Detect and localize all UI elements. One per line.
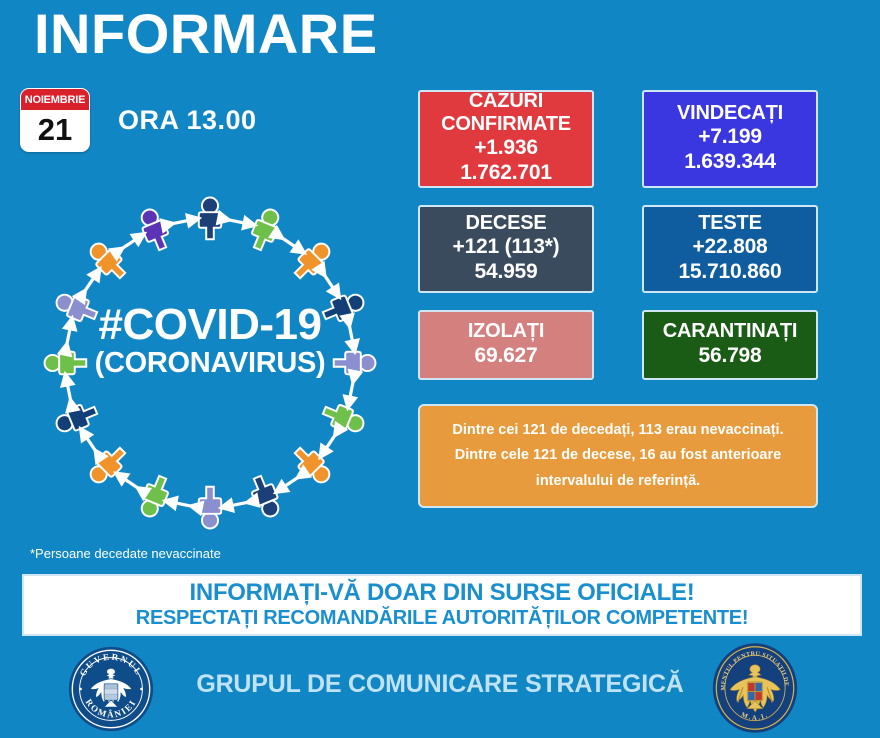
stats-row-2: DECESE +121 (113*) 54.959 TESTE +22.808 … xyxy=(418,205,818,310)
distance-arrow-icon xyxy=(169,502,195,507)
people-circle-svg xyxy=(20,185,400,545)
stat-daily: +121 (113*) xyxy=(426,234,586,259)
stat-label-line1: VINDECAȚI xyxy=(650,102,810,124)
stat-total: 15.710.860 xyxy=(650,259,810,284)
vaccination-note-box: Dintre cei 121 de decedați, 113 erau nev… xyxy=(418,404,818,508)
banner-line-2: RESPECTAȚI RECOMANDĂRILE AUTORITĂȚILOR C… xyxy=(136,606,748,630)
person-icon xyxy=(247,473,284,520)
note-line-3: intervalului de referință. xyxy=(434,469,802,494)
stat-box-cazuri-confirmate: CAZURI CONFIRMATE +1.936 1.762.701 xyxy=(418,90,594,188)
date-bar: NOIEMBRIE 21 ORA 13.00 xyxy=(20,88,257,152)
person-icon xyxy=(290,443,335,488)
stats-row-3: IZOLAȚI 69.627 CARANTINAȚI 56.798 xyxy=(418,310,818,397)
distance-arrow-icon xyxy=(83,432,98,454)
distance-arrow-icon xyxy=(279,476,301,491)
stat-label-line1: TESTE xyxy=(650,212,810,234)
stat-label-line1: DECESE xyxy=(426,212,586,234)
distance-arrow-icon xyxy=(323,432,338,454)
stat-box-vindecati: VINDECAȚI +7.199 1.639.344 xyxy=(642,90,818,188)
distance-arrow-icon xyxy=(83,272,98,294)
social-distancing-graphic: #COVID-19 (CORONAVIRUS) xyxy=(20,185,400,545)
distance-arrow-icon xyxy=(323,272,338,294)
infographic-poster: INFORMARE NOIEMBRIE 21 ORA 13.00 #COVID-… xyxy=(0,0,880,738)
stat-label-line2: CONFIRMATE xyxy=(426,113,586,135)
distance-arrow-icon xyxy=(225,502,251,507)
person-icon xyxy=(199,487,221,529)
distance-arrow-icon xyxy=(349,378,354,404)
person-icon xyxy=(320,400,367,437)
footnote-vaccination: *Persoane decedate nevaccinate xyxy=(30,546,221,561)
stat-total: 1.639.344 xyxy=(650,149,810,174)
stat-total: 1.762.701 xyxy=(426,160,586,185)
distance-arrow-icon xyxy=(119,236,141,251)
stat-label-line1: IZOLAȚI xyxy=(426,320,586,342)
stat-daily: +1.936 xyxy=(426,135,586,160)
stat-daily: +7.199 xyxy=(650,124,810,149)
stat-label-line1: CARANTINAȚI xyxy=(650,320,810,342)
person-icon xyxy=(53,400,100,437)
footer: GUVERNUL ROMÂNIEI GRUPUL DE COMUNICARE S… xyxy=(0,640,880,738)
distance-arrow-icon xyxy=(119,476,141,491)
hour-label: ORA 13.00 xyxy=(118,105,257,136)
banner-line-1: INFORMAȚI-VĂ DOAR DIN SURSE OFICIALE! xyxy=(190,580,695,607)
person-icon xyxy=(320,289,367,326)
note-line-2: Dintre cele 121 de decese, 16 au fost an… xyxy=(434,443,802,468)
person-icon xyxy=(136,206,173,253)
stat-label-line1: CAZURI xyxy=(426,90,586,112)
distance-arrow-icon xyxy=(349,322,354,348)
stat-box-decese: DECESE +121 (113*) 54.959 xyxy=(418,205,594,293)
stat-box-izolati: IZOLAȚI 69.627 xyxy=(418,310,594,380)
person-icon xyxy=(85,443,130,488)
person-icon xyxy=(53,289,100,326)
person-icon xyxy=(136,473,173,520)
stat-total: 54.959 xyxy=(426,259,586,284)
stat-box-carantinati: CARANTINAȚI 56.798 xyxy=(642,310,818,380)
person-icon xyxy=(334,352,376,374)
stat-total: 69.627 xyxy=(426,343,586,368)
stats-row-1: CAZURI CONFIRMATE +1.936 1.762.701 VINDE… xyxy=(418,90,818,205)
person-icon xyxy=(290,238,335,283)
stats-grid: CAZURI CONFIRMATE +1.936 1.762.701 VINDE… xyxy=(418,90,818,508)
official-sources-banner: INFORMAȚI-VĂ DOAR DIN SURSE OFICIALE! RE… xyxy=(22,574,862,636)
person-icon xyxy=(45,352,87,374)
calendar-day: 21 xyxy=(21,110,89,151)
note-line-1: Dintre cei 121 de decedați, 113 erau nev… xyxy=(434,418,802,443)
page-title: INFORMARE xyxy=(34,6,378,62)
distance-arrow-icon xyxy=(66,378,71,404)
person-icon xyxy=(85,238,130,283)
stat-box-teste: TESTE +22.808 15.710.860 xyxy=(642,205,818,293)
stat-total: 56.798 xyxy=(650,343,810,368)
distance-arrow-icon xyxy=(279,236,301,251)
distance-arrow-icon xyxy=(169,219,195,224)
calendar-month: NOIEMBRIE xyxy=(21,89,89,110)
person-icon xyxy=(247,206,284,253)
distance-arrow-icon xyxy=(66,322,71,348)
stat-daily: +22.808 xyxy=(650,234,810,259)
distance-arrow-icon xyxy=(225,219,251,224)
dsu-emblem-icon: DEPARTAMENTUL PENTRU SITUAȚII DE URGENȚĂ… xyxy=(712,642,798,734)
calendar-icon: NOIEMBRIE 21 xyxy=(20,88,90,152)
person-icon xyxy=(199,198,221,240)
